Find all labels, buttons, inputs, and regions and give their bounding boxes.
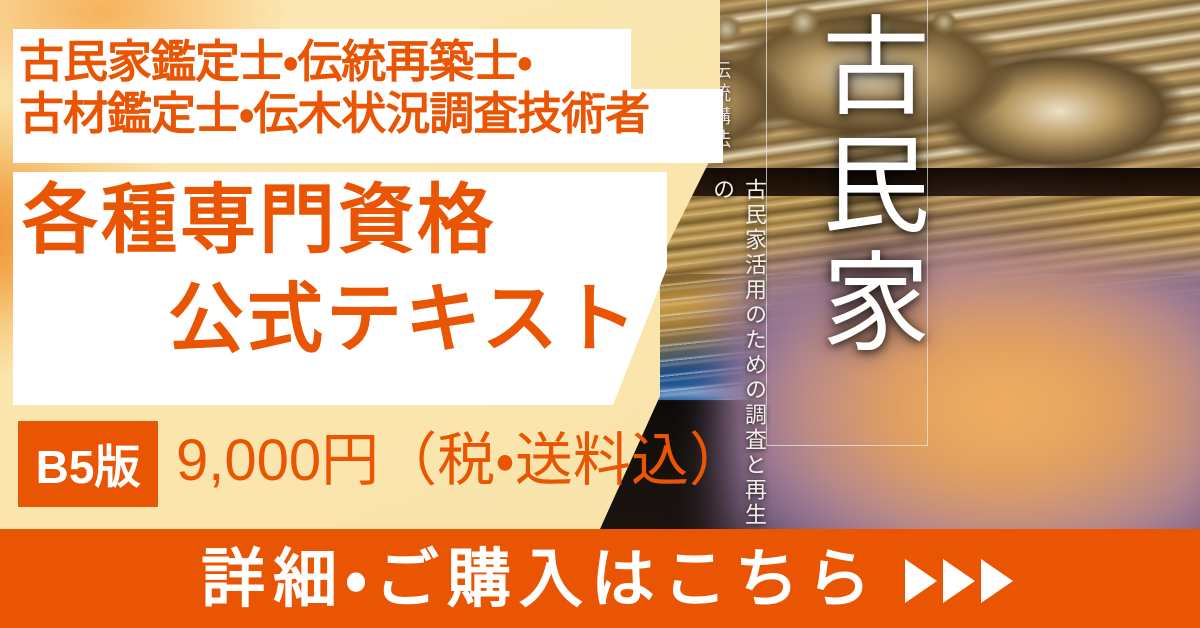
format-badge-label: B5版 — [36, 431, 141, 497]
triangle-right-icon — [981, 559, 1013, 603]
format-badge: B5版 — [18, 421, 158, 507]
main-title-line2: 公式テキスト — [168, 282, 640, 358]
cta-arrows — [905, 559, 1013, 603]
main-title-line1: 各種専門資格 — [22, 183, 496, 259]
triangle-right-icon — [905, 559, 937, 603]
cover-title: 古民家 — [770, 10, 925, 364]
promo-banner: 古民家 伝統構法 古民家活用のための調査と再生の 古民家鑑定士・伝統再築士・ 古… — [0, 0, 1200, 628]
cta-bar[interactable]: 詳細・ご購入はこちら — [0, 529, 1200, 628]
triangle-right-icon — [943, 559, 975, 603]
qualifications-headline: 古民家鑑定士・伝統再築士・ 古材鑑定士・伝木状況調査技術者 — [19, 36, 719, 140]
cta-label: 詳細・ご購入はこちら — [201, 547, 879, 611]
price-text: 9,000円（税・送料込） — [176, 432, 747, 490]
